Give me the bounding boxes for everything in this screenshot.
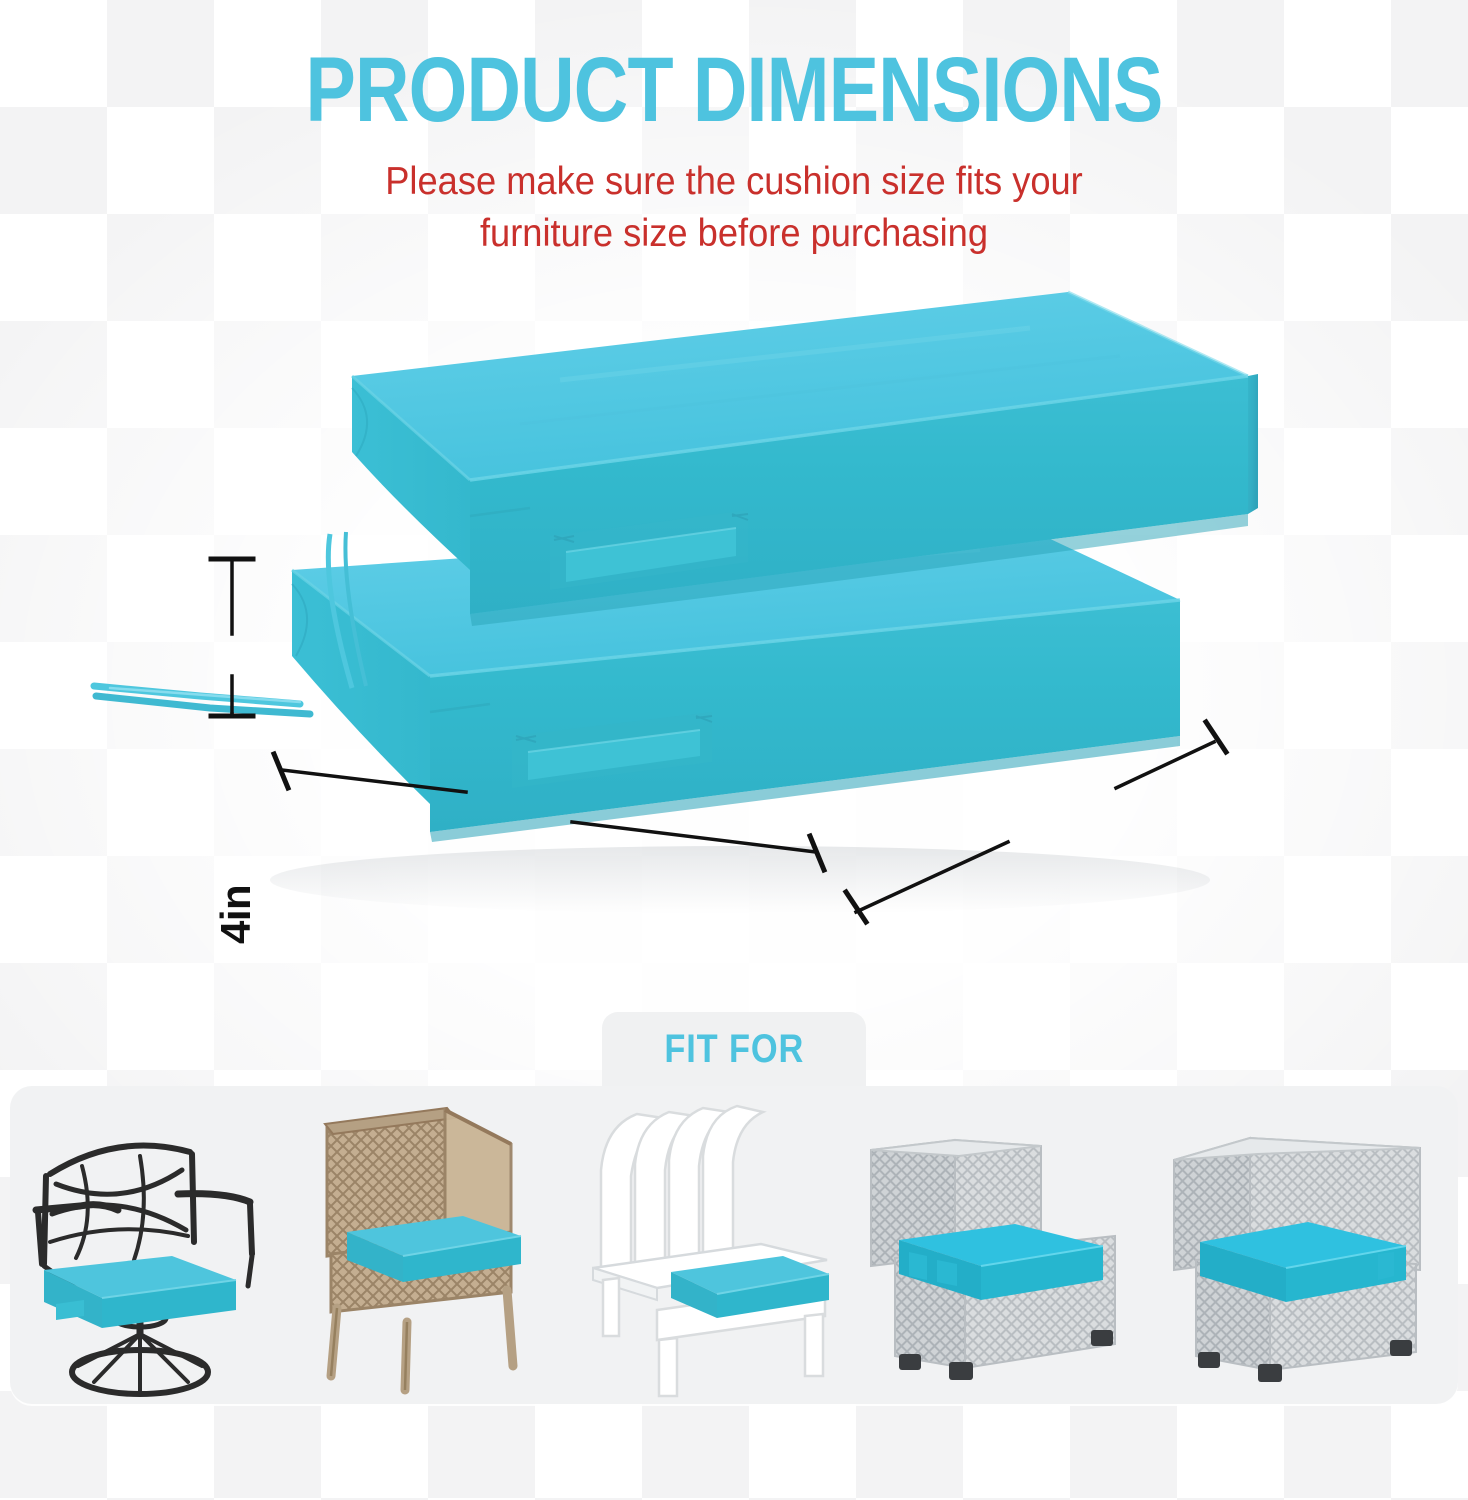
fit-for-tab: FIT FOR (602, 1012, 866, 1086)
fit-item-wicker-sectional-corner (1166, 1104, 1446, 1404)
fit-item-adirondack-chair (579, 1104, 839, 1404)
swivel-metal-chair-icon (22, 1114, 272, 1404)
fit-item-wicker-sectional-armless (863, 1104, 1143, 1404)
header: PRODUCT DIMENSIONS Please make sure the … (0, 0, 1468, 260)
fit-item-wicker-arm-chair (295, 1104, 555, 1404)
cushion-tie-straps (94, 686, 310, 714)
floor-shadow (270, 846, 1210, 914)
infographic-page: PRODUCT DIMENSIONS Please make sure the … (0, 0, 1468, 1500)
page-title: PRODUCT DIMENSIONS (132, 46, 1336, 134)
wicker-arm-chair-icon (295, 1104, 555, 1404)
product-illustration: 4in 19in 19in (0, 284, 1468, 1004)
adirondack-chair-icon (579, 1104, 839, 1404)
fit-item-swivel-metal-chair (22, 1114, 272, 1404)
fit-for-tab-label: FIT FOR (664, 1027, 804, 1072)
wicker-sectional-corner-icon (1166, 1104, 1446, 1404)
dimension-height (211, 559, 253, 716)
page-subtitle-line-2: furniture size before purchasing (51, 208, 1416, 260)
page-subtitle-line-1: Please make sure the cushion size fits y… (51, 156, 1416, 208)
page-subtitle: Please make sure the cushion size fits y… (51, 156, 1416, 260)
wicker-sectional-armless-icon (863, 1104, 1143, 1404)
chair-cushion (44, 1256, 236, 1328)
dimension-height-label: 4in (212, 885, 260, 944)
fit-for-items (10, 1086, 1458, 1404)
